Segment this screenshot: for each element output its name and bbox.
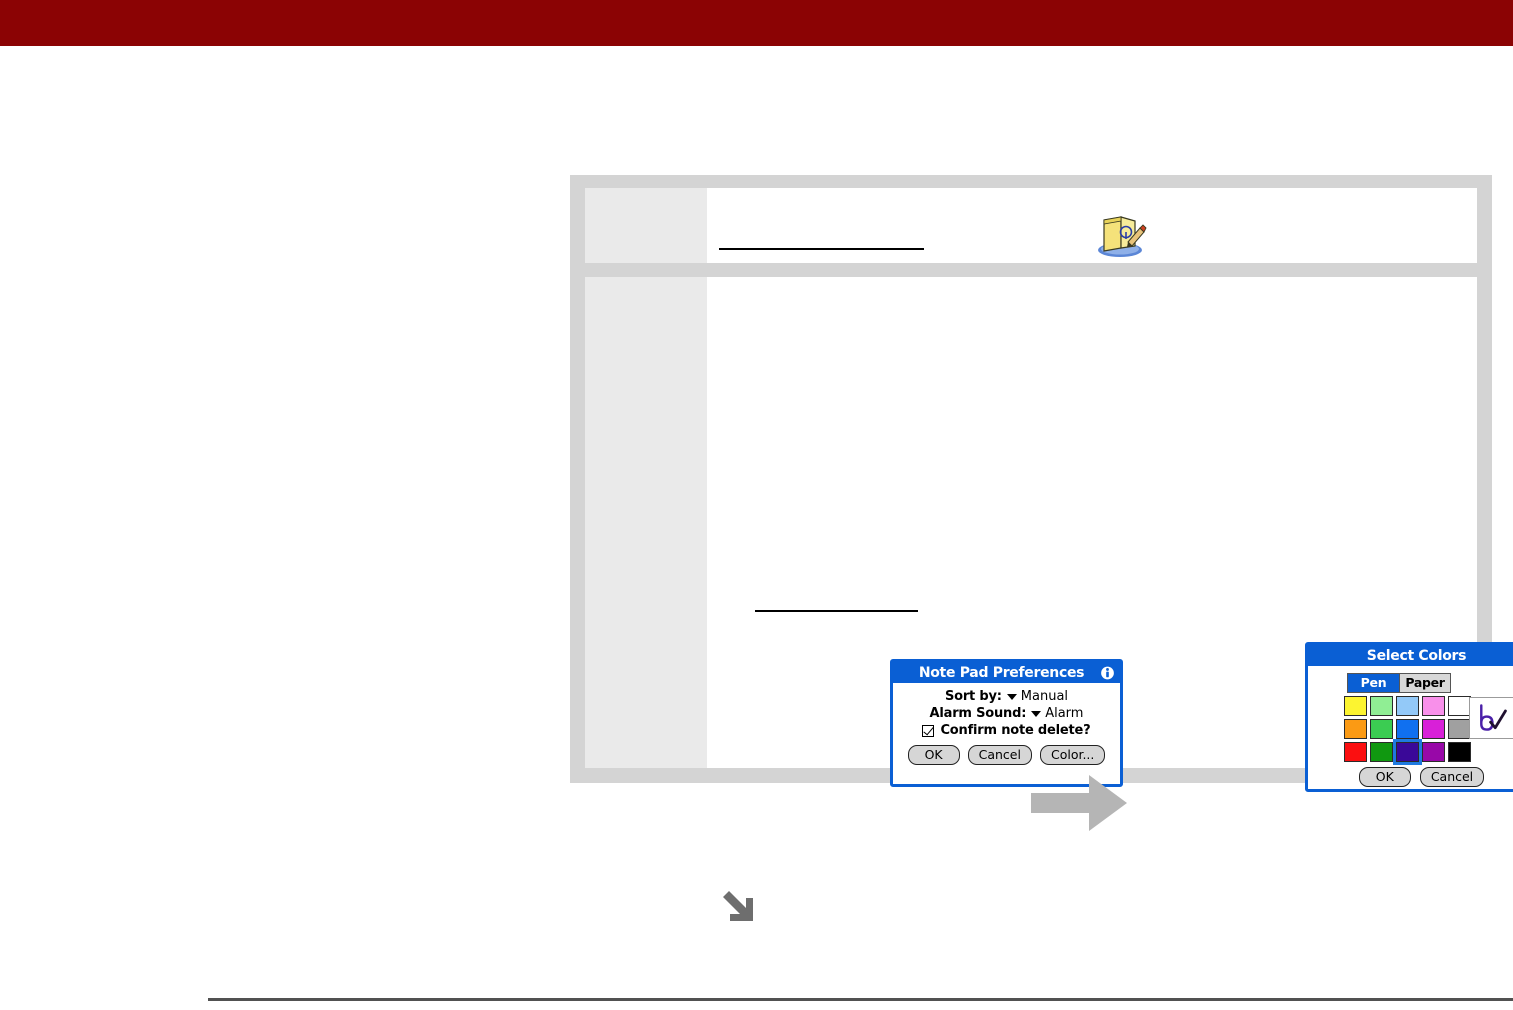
color-swatch-yellow[interactable]: [1344, 696, 1367, 716]
confirm-note-delete-label: Confirm note delete?: [940, 723, 1090, 738]
redacted-text-underline-1: [719, 248, 924, 250]
top-banner: [0, 0, 1513, 46]
down-right-arrow-icon: [719, 887, 757, 925]
note-pad-preferences-dialog: Note Pad Preferences Sort by: Manual: [890, 659, 1123, 787]
sort-by-value: Manual: [1021, 689, 1068, 704]
tab-pen[interactable]: Pen: [1348, 674, 1399, 692]
pen-stroke-preview: [1469, 697, 1513, 739]
color-swatch-gray[interactable]: [1448, 719, 1471, 739]
step-number-column-2: [585, 277, 707, 768]
step-body-2: Note Pad Preferences Sort by: Manual: [707, 277, 1477, 768]
sort-by-row[interactable]: Sort by: Manual: [893, 689, 1120, 704]
step-panel-2: Note Pad Preferences Sort by: Manual: [585, 277, 1477, 768]
color-swatch-blue[interactable]: [1396, 719, 1419, 739]
step-panel-1: [585, 188, 1477, 263]
color-swatch-black[interactable]: [1448, 742, 1471, 762]
alarm-sound-label: Alarm Sound:: [930, 706, 1027, 721]
step-number-column-1: [585, 188, 707, 263]
color-swatch-green[interactable]: [1370, 719, 1393, 739]
confirm-note-delete-checkbox[interactable]: [922, 725, 934, 737]
color-swatch-grid: [1344, 696, 1471, 762]
prefs-dialog-body: Sort by: Manual Alarm Sound: Alarm Confi…: [893, 683, 1120, 765]
color-swatch-pink[interactable]: [1422, 696, 1445, 716]
color-swatch-dark-green[interactable]: [1370, 742, 1393, 762]
color-swatch-magenta[interactable]: [1422, 719, 1445, 739]
right-arrow-icon: [1031, 772, 1129, 834]
redacted-text-underline-2: [755, 610, 918, 612]
colors-dialog-button-row: OK Cancel: [1308, 767, 1513, 787]
select-colors-dialog: Select Colors Pen Paper: [1305, 642, 1513, 792]
prefs-color-button[interactable]: Color...: [1040, 745, 1105, 765]
color-swatch-light-green[interactable]: [1370, 696, 1393, 716]
color-swatch-purple[interactable]: [1422, 742, 1445, 762]
info-icon[interactable]: [1100, 665, 1115, 680]
chevron-down-icon[interactable]: [1031, 711, 1041, 717]
color-swatch-white[interactable]: [1448, 696, 1471, 716]
colors-dialog-title: Select Colors: [1367, 648, 1476, 664]
color-swatch-orange[interactable]: [1344, 719, 1367, 739]
prefs-dialog-button-row: OK Cancel Color...: [893, 745, 1120, 765]
colors-cancel-button[interactable]: Cancel: [1420, 767, 1484, 787]
prefs-ok-button[interactable]: OK: [908, 745, 960, 765]
step-body-1: [707, 188, 1477, 263]
prefs-dialog-title: Note Pad Preferences: [919, 665, 1094, 681]
colors-dialog-body: Pen Paper OK Cancel: [1308, 666, 1513, 693]
step-number-1: [585, 188, 707, 198]
colors-dialog-titlebar: Select Colors: [1308, 645, 1513, 666]
prefs-dialog-titlebar: Note Pad Preferences: [893, 662, 1120, 683]
chevron-down-icon[interactable]: [1007, 694, 1017, 700]
footer-rule: [208, 998, 1513, 1001]
alarm-sound-row[interactable]: Alarm Sound: Alarm: [893, 706, 1120, 721]
alarm-sound-value: Alarm: [1045, 706, 1083, 721]
pen-paper-tab-strip: Pen Paper: [1347, 673, 1451, 693]
tab-paper[interactable]: Paper: [1399, 674, 1450, 692]
confirm-note-delete-row[interactable]: Confirm note delete?: [893, 723, 1120, 738]
pen-stroke-preview-icon: [1470, 698, 1513, 737]
color-swatch-red[interactable]: [1344, 742, 1367, 762]
colors-ok-button[interactable]: OK: [1359, 767, 1411, 787]
step-number-2: [585, 277, 707, 287]
prefs-cancel-button[interactable]: Cancel: [968, 745, 1032, 765]
color-swatch-light-blue[interactable]: [1396, 696, 1419, 716]
sort-by-label: Sort by:: [945, 689, 1002, 704]
color-swatch-indigo[interactable]: [1396, 742, 1419, 762]
steps-container: Note Pad Preferences Sort by: Manual: [570, 175, 1492, 783]
notepad-app-icon: [1092, 212, 1148, 260]
